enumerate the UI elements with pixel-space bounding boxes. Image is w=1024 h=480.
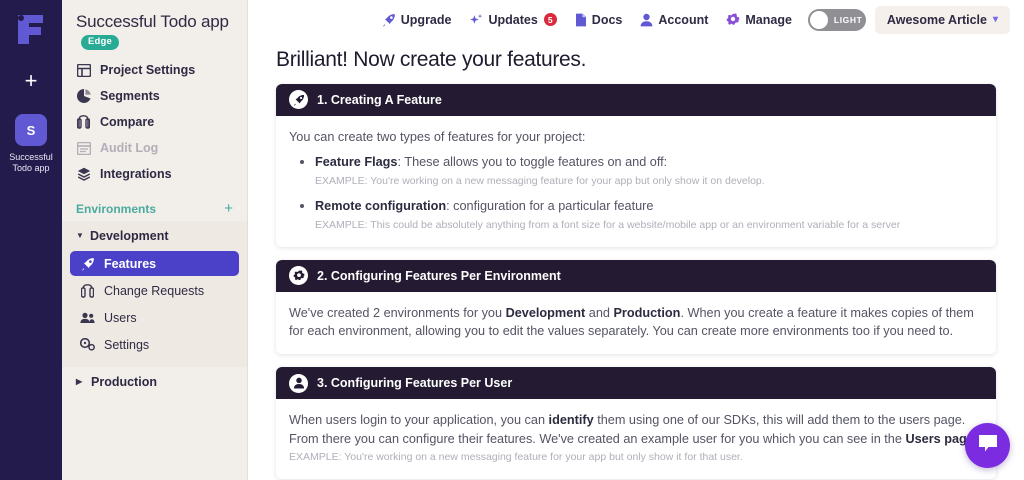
integrations-layers-icon bbox=[76, 167, 91, 182]
settings-gear-icon bbox=[80, 337, 95, 352]
sidebar-item-users[interactable]: Users bbox=[70, 305, 239, 330]
flagsmith-logo-icon[interactable] bbox=[11, 8, 51, 50]
card-example: EXAMPLE: You're working on a new messagi… bbox=[289, 450, 983, 465]
add-environment-button[interactable]: + bbox=[224, 201, 233, 216]
bullet-rest: : configuration for a particular feature bbox=[446, 199, 653, 213]
sidebar-label: Project Settings bbox=[100, 63, 195, 77]
chat-bubble-icon bbox=[977, 433, 999, 458]
rocket-icon bbox=[80, 256, 95, 271]
card-body: When users login to your application, yo… bbox=[276, 399, 996, 479]
sidebar-item-segments[interactable]: Segments bbox=[62, 83, 247, 109]
main-area: Upgrade Updates 5 Docs Account bbox=[248, 0, 1024, 480]
top-navbar: Upgrade Updates 5 Docs Account bbox=[248, 0, 1024, 40]
rail-project-label: Successful Todo app bbox=[3, 152, 59, 175]
environments-label: Environments bbox=[76, 202, 156, 216]
environment-production-toggle[interactable]: ▶ Production bbox=[62, 367, 247, 393]
sparkle-icon bbox=[469, 13, 483, 27]
account-button[interactable]: Account bbox=[631, 8, 717, 32]
page-title: Brilliant! Now create your features. bbox=[276, 48, 996, 72]
bullet-term: Remote configuration bbox=[315, 199, 446, 213]
rail-project-successful-todo-app[interactable]: S Successful Todo app bbox=[3, 114, 59, 175]
sidebar-item-audit-log[interactable]: Audit Log bbox=[62, 135, 247, 161]
sidebar-item-settings[interactable]: Settings bbox=[70, 332, 239, 357]
card-title: 3. Configuring Features Per User bbox=[317, 376, 512, 390]
content-panel: Brilliant! Now create your features. 1. … bbox=[248, 40, 1024, 480]
card-intro-text: You can create two types of features for… bbox=[289, 128, 983, 146]
card-title: 2. Configuring Features Per Environment bbox=[317, 269, 561, 283]
rail-project-initial: S bbox=[15, 114, 47, 146]
sidebar-item-compare[interactable]: Compare bbox=[62, 109, 247, 135]
sidebar-label: Audit Log bbox=[100, 141, 158, 155]
docs-button[interactable]: Docs bbox=[566, 8, 632, 32]
sidebar-item-features[interactable]: Features bbox=[70, 251, 239, 276]
gear-icon bbox=[289, 266, 308, 285]
rocket-icon bbox=[289, 90, 308, 109]
edge-badge: Edge bbox=[81, 35, 119, 51]
segments-pie-icon bbox=[76, 89, 91, 104]
sidebar-label: Features bbox=[104, 257, 156, 271]
chevron-down-icon: ▾ bbox=[993, 14, 998, 25]
manage-button[interactable]: Manage bbox=[717, 8, 801, 32]
app-root: + S Successful Todo app Successful Todo … bbox=[0, 0, 1024, 480]
sidebar-label: Integrations bbox=[100, 167, 172, 181]
chevron-down-icon: ▼ bbox=[76, 232, 84, 240]
change-requests-icon bbox=[80, 283, 95, 298]
theme-toggle[interactable]: LIGHT bbox=[808, 9, 866, 31]
sidebar-label: Change Requests bbox=[104, 284, 204, 298]
development-sub-nav: Features Change Requests Users bbox=[62, 247, 247, 357]
document-icon bbox=[575, 13, 587, 27]
environment-production-label: Production bbox=[91, 375, 157, 389]
org-rail: + S Successful Todo app bbox=[0, 0, 62, 480]
card-title: 1. Creating A Feature bbox=[317, 93, 442, 107]
chat-support-button[interactable] bbox=[965, 423, 1010, 468]
feature-types-list: Feature Flags: These allows you to toggl… bbox=[289, 153, 983, 232]
card-creating-a-feature: 1. Creating A Feature You can create two… bbox=[276, 84, 996, 247]
card-paragraph: We've created 2 environments for you Dev… bbox=[289, 304, 983, 341]
bullet-example: EXAMPLE: You're working on a new messagi… bbox=[315, 174, 983, 189]
person-icon bbox=[640, 13, 653, 27]
environment-development-toggle[interactable]: ▼ Development bbox=[62, 225, 247, 247]
card-configuring-features-per-environment: 2. Configuring Features Per Environment … bbox=[276, 260, 996, 355]
card-body: We've created 2 environments for you Dev… bbox=[276, 292, 996, 355]
sidebar-label: Users bbox=[104, 311, 137, 325]
project-sidebar: Successful Todo appEdge Project Settings… bbox=[62, 0, 248, 480]
environment-development-label: Development bbox=[90, 229, 169, 243]
upgrade-label: Upgrade bbox=[401, 13, 452, 27]
project-title-text: Successful Todo app bbox=[76, 12, 229, 31]
audit-log-icon bbox=[76, 141, 91, 156]
environment-development-block: ▼ Development Features Change Requests bbox=[62, 221, 247, 367]
docs-label: Docs bbox=[592, 13, 623, 27]
updates-count-badge: 5 bbox=[544, 13, 557, 26]
environments-header: Environments + bbox=[62, 195, 247, 221]
article-dropdown[interactable]: Awesome Article ▾ bbox=[875, 6, 1010, 34]
manage-label: Manage bbox=[745, 13, 792, 27]
bullet-rest: : These allows you to toggle features on… bbox=[398, 155, 668, 169]
updates-button[interactable]: Updates 5 bbox=[460, 8, 565, 32]
updates-label: Updates bbox=[488, 13, 537, 27]
gear-icon bbox=[726, 13, 740, 27]
bullet-term: Feature Flags bbox=[315, 155, 398, 169]
sidebar-label: Settings bbox=[104, 338, 149, 352]
project-settings-icon bbox=[76, 63, 91, 78]
list-item: Feature Flags: These allows you to toggl… bbox=[289, 153, 983, 188]
project-title: Successful Todo appEdge bbox=[62, 10, 247, 51]
person-icon bbox=[289, 374, 308, 393]
bullet-example: EXAMPLE: This could be absolutely anythi… bbox=[315, 218, 983, 233]
account-label: Account bbox=[658, 13, 708, 27]
list-item: Remote configuration: configuration for … bbox=[289, 197, 983, 232]
sidebar-item-integrations[interactable]: Integrations bbox=[62, 161, 247, 187]
card-paragraph: When users login to your application, yo… bbox=[289, 411, 983, 448]
sidebar-item-project-settings[interactable]: Project Settings bbox=[62, 57, 247, 83]
sidebar-item-change-requests[interactable]: Change Requests bbox=[70, 278, 239, 303]
card-configuring-features-per-user: 3. Configuring Features Per User When us… bbox=[276, 367, 996, 479]
card-body: You can create two types of features for… bbox=[276, 116, 996, 247]
project-nav: Project Settings Segments Compare Audit … bbox=[62, 57, 247, 187]
theme-toggle-knob bbox=[810, 11, 828, 29]
card-header: 1. Creating A Feature bbox=[276, 84, 996, 116]
add-project-button[interactable]: + bbox=[14, 64, 48, 98]
users-icon bbox=[80, 310, 95, 325]
theme-toggle-label: LIGHT bbox=[834, 15, 863, 25]
chevron-right-icon: ▶ bbox=[76, 378, 84, 386]
card-header: 2. Configuring Features Per Environment bbox=[276, 260, 996, 292]
sidebar-label: Segments bbox=[100, 89, 160, 103]
compare-icon bbox=[76, 115, 91, 130]
card-header: 3. Configuring Features Per User bbox=[276, 367, 996, 399]
sidebar-label: Compare bbox=[100, 115, 154, 129]
rocket-icon bbox=[382, 13, 396, 27]
upgrade-button[interactable]: Upgrade bbox=[373, 8, 461, 32]
article-dropdown-value: Awesome Article bbox=[887, 13, 987, 27]
